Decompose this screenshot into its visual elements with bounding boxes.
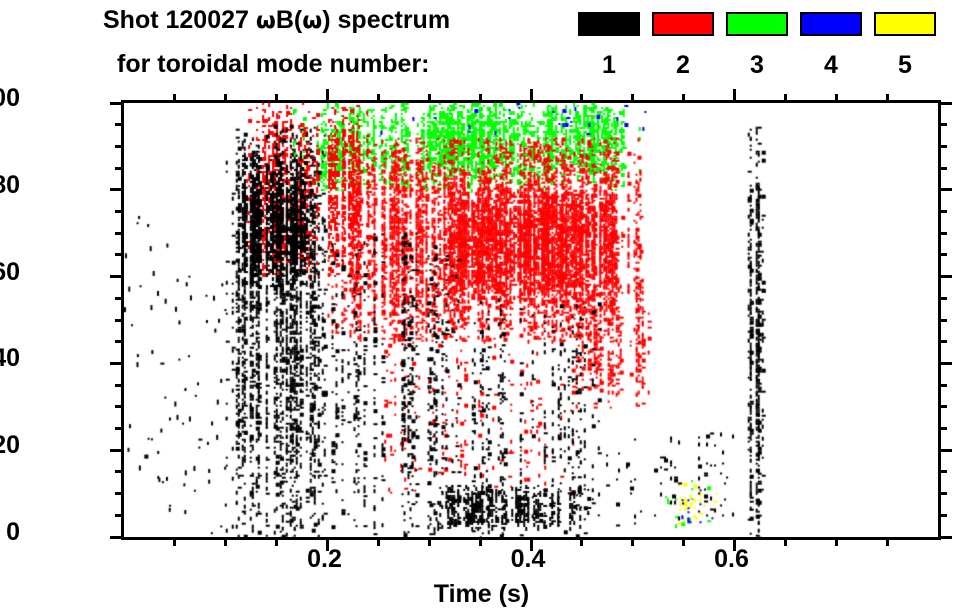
y-tick-minor (115, 340, 124, 343)
x-axis-title: Time (s) (0, 580, 963, 609)
x-tick-minor (580, 94, 583, 103)
y-tick-minor (115, 167, 124, 170)
y-tick-minor (938, 210, 947, 213)
legend-swatch-2 (652, 12, 714, 36)
y-tick-minor (938, 232, 947, 235)
x-tick-minor (631, 94, 634, 103)
y-tick-minor (938, 167, 947, 170)
x-tick-minor (784, 537, 787, 546)
y-tick-major (110, 275, 124, 278)
y-tick-minor (115, 123, 124, 126)
y-tick-label: 60 (0, 258, 20, 287)
legend-entry-3: 3 (726, 12, 788, 78)
y-tick-minor (115, 145, 124, 148)
y-tick-minor (115, 492, 124, 495)
spectrogram-image (124, 103, 938, 537)
x-tick-minor (275, 94, 278, 103)
y-tick-minor (115, 210, 124, 213)
x-tick-label: 0.6 (687, 545, 777, 574)
x-tick-minor (428, 537, 431, 546)
x-tick-minor (631, 537, 634, 546)
y-tick-minor (115, 384, 124, 387)
y-tick-major (938, 536, 952, 539)
y-tick-major (938, 362, 952, 365)
x-tick-minor (784, 94, 787, 103)
y-tick-label: 20 (0, 431, 20, 460)
x-tick-label: 0.4 (483, 545, 573, 574)
y-tick-minor (938, 405, 947, 408)
y-tick-label: 100 (0, 84, 20, 113)
y-tick-minor (938, 253, 947, 256)
x-tick-minor (835, 537, 838, 546)
y-tick-label: 0 (6, 518, 20, 547)
x-tick-major (326, 89, 329, 103)
legend-entry-1: 1 (578, 12, 640, 78)
y-tick-minor (938, 492, 947, 495)
y-tick-minor (938, 319, 947, 322)
y-tick-label: 80 (0, 171, 20, 200)
x-tick-minor (580, 537, 583, 546)
x-tick-minor (428, 94, 431, 103)
x-tick-label: 0.2 (280, 545, 370, 574)
y-tick-major (110, 449, 124, 452)
y-tick-major (110, 536, 124, 539)
y-tick-major (938, 449, 952, 452)
y-tick-minor (115, 319, 124, 322)
y-tick-minor (938, 470, 947, 473)
x-tick-minor (682, 537, 685, 546)
y-tick-minor (938, 514, 947, 517)
legend-swatch-1 (578, 12, 640, 36)
y-tick-minor (938, 123, 947, 126)
omega-symbol-1: ω (256, 8, 276, 34)
x-tick-minor (479, 537, 482, 546)
legend-entry-5: 5 (874, 12, 936, 78)
y-tick-minor (938, 427, 947, 430)
y-tick-minor (938, 384, 947, 387)
x-tick-minor (377, 94, 380, 103)
x-tick-minor (377, 537, 380, 546)
plot-title-line-2: for toroidal mode number: (117, 50, 430, 79)
x-tick-minor (886, 94, 889, 103)
title-prefix: Shot 120027 (103, 6, 256, 34)
y-tick-minor (115, 297, 124, 300)
omega-symbol-2: ω (302, 8, 322, 34)
legend-swatch-4 (800, 12, 862, 36)
legend-entry-4: 4 (800, 12, 862, 78)
title-suffix: ) spectrum (322, 6, 450, 34)
y-tick-major (110, 188, 124, 191)
y-tick-minor (115, 232, 124, 235)
x-tick-minor (682, 94, 685, 103)
x-tick-major (530, 89, 533, 103)
x-tick-minor (275, 537, 278, 546)
y-tick-major (938, 188, 952, 191)
y-tick-minor (115, 427, 124, 430)
spectrogram-figure: Shot 120027 ωB(ω) spectrum for toroidal … (0, 0, 963, 615)
y-tick-minor (115, 514, 124, 517)
x-tick-minor (886, 537, 889, 546)
legend-label-1: 1 (578, 52, 640, 78)
x-tick-minor (173, 537, 176, 546)
plot-area (121, 100, 941, 540)
y-tick-minor (115, 253, 124, 256)
y-tick-major (938, 102, 952, 105)
y-tick-minor (938, 297, 947, 300)
plot-title-line-1: Shot 120027 ωB(ω) spectrum (103, 6, 450, 35)
x-tick-minor (224, 94, 227, 103)
legend-label-2: 2 (652, 52, 714, 78)
y-tick-major (938, 275, 952, 278)
x-tick-minor (224, 537, 227, 546)
legend-label-3: 3 (726, 52, 788, 78)
x-tick-minor (479, 94, 482, 103)
legend-swatch-5 (874, 12, 936, 36)
legend-label-5: 5 (874, 52, 936, 78)
y-tick-label: 40 (0, 344, 20, 373)
y-tick-minor (938, 340, 947, 343)
legend-swatch-3 (726, 12, 788, 36)
legend-entry-2: 2 (652, 12, 714, 78)
y-tick-major (110, 102, 124, 105)
legend: 12345 (578, 12, 950, 90)
title-mid: B( (276, 6, 302, 34)
y-tick-major (110, 362, 124, 365)
x-tick-minor (835, 94, 838, 103)
y-tick-minor (938, 145, 947, 148)
legend-label-4: 4 (800, 52, 862, 78)
y-tick-minor (115, 405, 124, 408)
x-tick-minor (173, 94, 176, 103)
x-tick-major (733, 89, 736, 103)
y-tick-minor (115, 470, 124, 473)
